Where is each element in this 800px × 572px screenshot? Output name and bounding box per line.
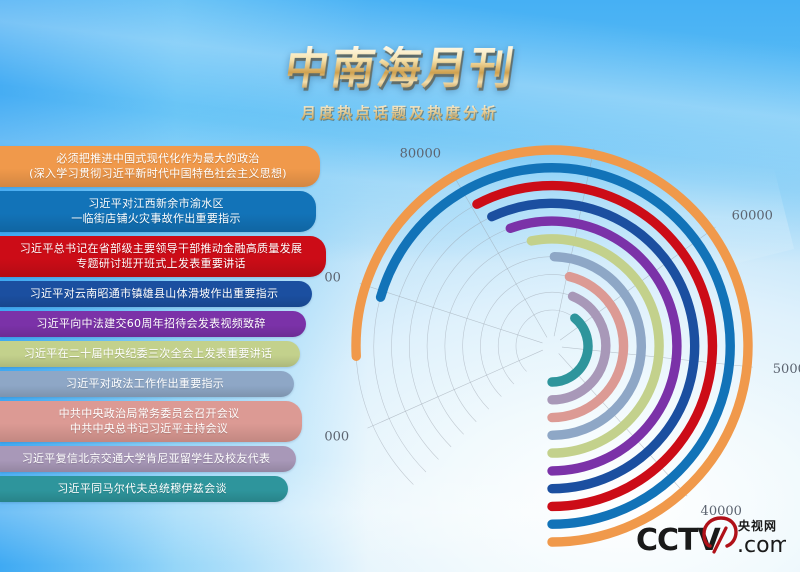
legend-item-label: 习近平在二十届中央纪委三次全会上发表重要讲话 bbox=[24, 346, 273, 361]
legend-item-line1: 习近平对云南昭通市镇雄县山体滑坡作出重要指示 bbox=[30, 286, 279, 301]
legend-item-line1: 习近平向中法建交60周年招待会发表视频致辞 bbox=[36, 316, 265, 331]
legend-item-label: 习近平同马尔代夫总统穆伊兹会谈 bbox=[57, 481, 227, 496]
radial-bar-chart: 400005000060000700008000090000100000 bbox=[324, 134, 800, 572]
legend-item-line2: 一临街店铺火灾事故作出重要指示 bbox=[71, 211, 241, 226]
legend-item[interactable]: 习近平同马尔代夫总统穆伊兹会谈 bbox=[0, 476, 288, 502]
legend-item[interactable]: 习近平对江西新余市渝水区一临街店铺火灾事故作出重要指示 bbox=[0, 191, 316, 232]
legend-item[interactable]: 习近平在二十届中央纪委三次全会上发表重要讲话 bbox=[0, 341, 300, 367]
legend-item-label: 习近平对云南昭通市镇雄县山体滑坡作出重要指示 bbox=[30, 286, 279, 301]
infographic-canvas: 中南海月刊 月度热点话题及热度分析 必须把推进中国式现代化作为最大的政治(深入学… bbox=[0, 0, 800, 572]
legend-item-line1: 必须把推进中国式现代化作为最大的政治 bbox=[29, 151, 287, 166]
axis-tick-label: 60000 bbox=[732, 209, 773, 224]
radial-bar[interactable] bbox=[510, 221, 677, 471]
legend-item[interactable]: 习近平向中法建交60周年招待会发表视频致辞 bbox=[0, 311, 306, 337]
axis-tick-label: 70000 bbox=[577, 134, 618, 137]
axis-tick-label: 90000 bbox=[324, 270, 341, 285]
legend-item-label: 习近平向中法建交60周年招待会发表视频致辞 bbox=[36, 316, 265, 331]
legend-list: 必须把推进中国式现代化作为最大的政治(深入学习贯彻习近平新时代中国特色社会主义思… bbox=[0, 146, 326, 506]
legend-item[interactable]: 习近平复信北京交通大学肯尼亚留学生及校友代表 bbox=[0, 446, 296, 472]
page-title: 中南海月刊 bbox=[282, 46, 518, 92]
grid-spoke bbox=[367, 350, 542, 428]
radial-bar[interactable] bbox=[356, 150, 748, 542]
legend-item-label: 习近平对政法工作作出重要指示 bbox=[66, 376, 224, 391]
legend-item-line1: 中共中央政治局常务委员会召开会议 bbox=[59, 406, 240, 421]
radial-chart-svg: 400005000060000700008000090000100000 bbox=[324, 134, 800, 572]
logo-suffix-text: .com bbox=[737, 533, 786, 558]
legend-item-line1: 习近平在二十届中央纪委三次全会上发表重要讲话 bbox=[24, 346, 273, 361]
logo-brand-text: CCTV bbox=[636, 523, 721, 558]
axis-tick-label: 80000 bbox=[400, 147, 441, 162]
legend-item-label: 中共中央政治局常务委员会召开会议中共中央总书记习近平主持会议 bbox=[59, 406, 240, 436]
legend-item[interactable]: 习近平对云南昭通市镇雄县山体滑坡作出重要指示 bbox=[0, 281, 312, 307]
legend-item-line1: 习近平复信北京交通大学肯尼亚留学生及校友代表 bbox=[22, 451, 271, 466]
axis-tick-label: 100000 bbox=[324, 429, 349, 444]
legend-item-line2: (深入学习贯彻习近平新时代中国特色社会主义思想) bbox=[29, 166, 287, 181]
legend-item-label: 习近平对江西新余市渝水区一临街店铺火灾事故作出重要指示 bbox=[71, 196, 241, 226]
legend-item-line1: 习近平对江西新余市渝水区 bbox=[71, 196, 241, 211]
legend-item[interactable]: 中共中央政治局常务委员会召开会议中共中央总书记习近平主持会议 bbox=[0, 401, 302, 442]
legend-item-line2: 专题研讨班开班式上发表重要讲话 bbox=[20, 256, 303, 271]
axis-tick-label: 50000 bbox=[773, 362, 800, 377]
legend-item-line2: 中共中央总书记习近平主持会议 bbox=[59, 421, 240, 436]
legend-item[interactable]: 习近平对政法工作作出重要指示 bbox=[0, 371, 294, 397]
page-subtitle: 月度热点话题及热度分析 bbox=[301, 102, 499, 123]
legend-item-line1: 习近平同马尔代夫总统穆伊兹会谈 bbox=[57, 481, 227, 496]
legend-item[interactable]: 必须把推进中国式现代化作为最大的政治(深入学习贯彻习近平新时代中国特色社会主义思… bbox=[0, 146, 320, 187]
legend-item-label: 习近平复信北京交通大学肯尼亚留学生及校友代表 bbox=[22, 451, 271, 466]
cctv-logo: CCTV 央视网 .com bbox=[636, 512, 786, 558]
legend-item-label: 必须把推进中国式现代化作为最大的政治(深入学习贯彻习近平新时代中国特色社会主义思… bbox=[29, 151, 287, 181]
legend-item-line1: 习近平对政法工作作出重要指示 bbox=[66, 376, 224, 391]
grid-spoke bbox=[360, 284, 543, 343]
cctv-logo-svg: CCTV 央视网 .com bbox=[636, 512, 786, 558]
radial-bar[interactable] bbox=[552, 318, 588, 382]
logo-cn-text: 央视网 bbox=[738, 518, 777, 533]
legend-item[interactable]: 习近平总书记在省部级主要领导干部推动金融高质量发展专题研讨班开班式上发表重要讲话 bbox=[0, 236, 326, 277]
legend-item-line1: 习近平总书记在省部级主要领导干部推动金融高质量发展 bbox=[20, 241, 303, 256]
legend-item-label: 习近平总书记在省部级主要领导干部推动金融高质量发展专题研讨班开班式上发表重要讲话 bbox=[20, 241, 303, 271]
chart-bars bbox=[356, 150, 748, 542]
title-block: 中南海月刊 月度热点话题及热度分析 bbox=[0, 46, 800, 123]
